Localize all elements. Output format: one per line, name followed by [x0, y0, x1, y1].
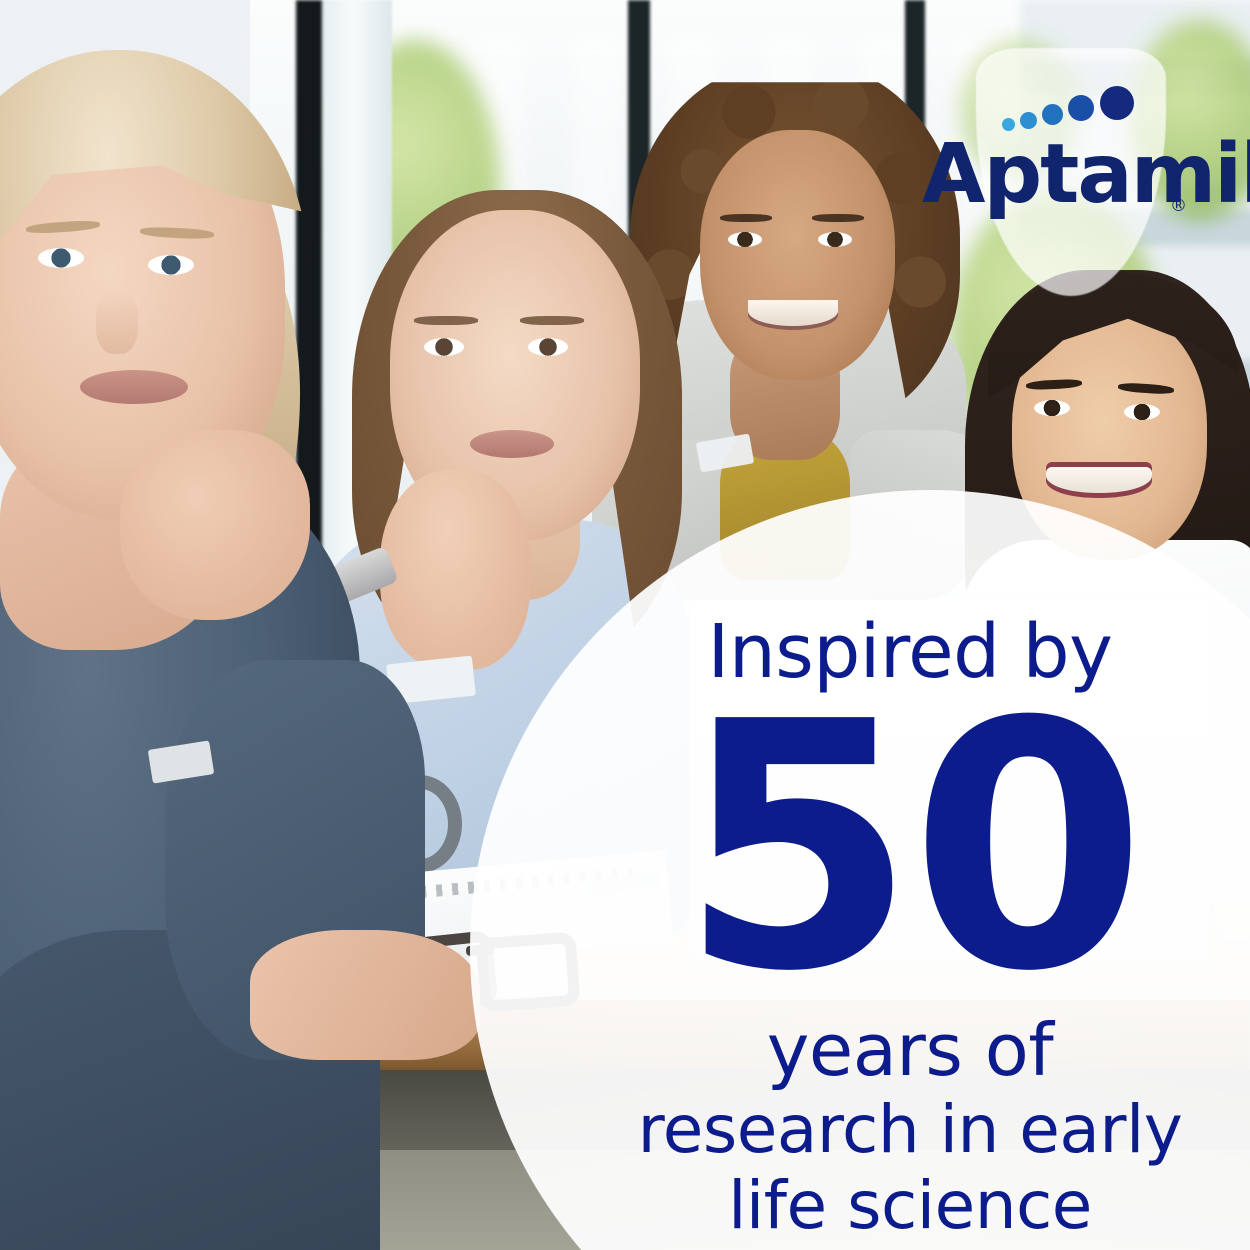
subject-3-eye: [818, 232, 852, 247]
subject-3-eyebrow: [812, 214, 864, 222]
aptamil-dot-5: [1100, 86, 1134, 120]
subject-2-eye: [528, 338, 568, 356]
subject-1-eye: [148, 255, 194, 275]
headline-block: Inspired by 50 years of research in earl…: [600, 612, 1220, 1244]
subject-3-eyebrow: [720, 214, 772, 222]
aptamil-wordmark: Aptamil: [922, 134, 1212, 216]
registered-trademark-symbol: ®: [1170, 196, 1187, 216]
subject-3-face: [700, 130, 895, 380]
subject-1-lips: [80, 370, 188, 404]
subject-1-hand: [120, 430, 310, 620]
subject-2-eyebrow: [414, 316, 478, 325]
headline-number-50: 50: [600, 698, 1220, 998]
subject-2-eye: [424, 338, 464, 356]
aptamil-logo: Aptamil ®: [940, 48, 1200, 318]
subject-4-eye: [1124, 404, 1160, 420]
subject-1-nose: [96, 290, 138, 354]
subject-2-eyebrow: [520, 316, 584, 325]
aptamil-dot-4: [1068, 95, 1094, 121]
subject-2-hand: [380, 470, 530, 670]
headline-line-life-science: life science: [600, 1168, 1220, 1244]
subject-3-eye: [728, 232, 762, 247]
headline-line-research-in-early: research in early: [600, 1092, 1220, 1168]
subject-4-eye: [1034, 400, 1070, 416]
subject-2-lips: [470, 430, 554, 458]
advertisement-canvas: Inspired by 50 years of research in earl…: [0, 0, 1250, 1250]
subject-1-forearm: [250, 930, 480, 1060]
aptamil-dot-3: [1042, 104, 1063, 125]
subject-3-smile: [748, 300, 838, 330]
subject-1-eye: [38, 248, 84, 268]
subject-4-smile: [1046, 462, 1152, 498]
